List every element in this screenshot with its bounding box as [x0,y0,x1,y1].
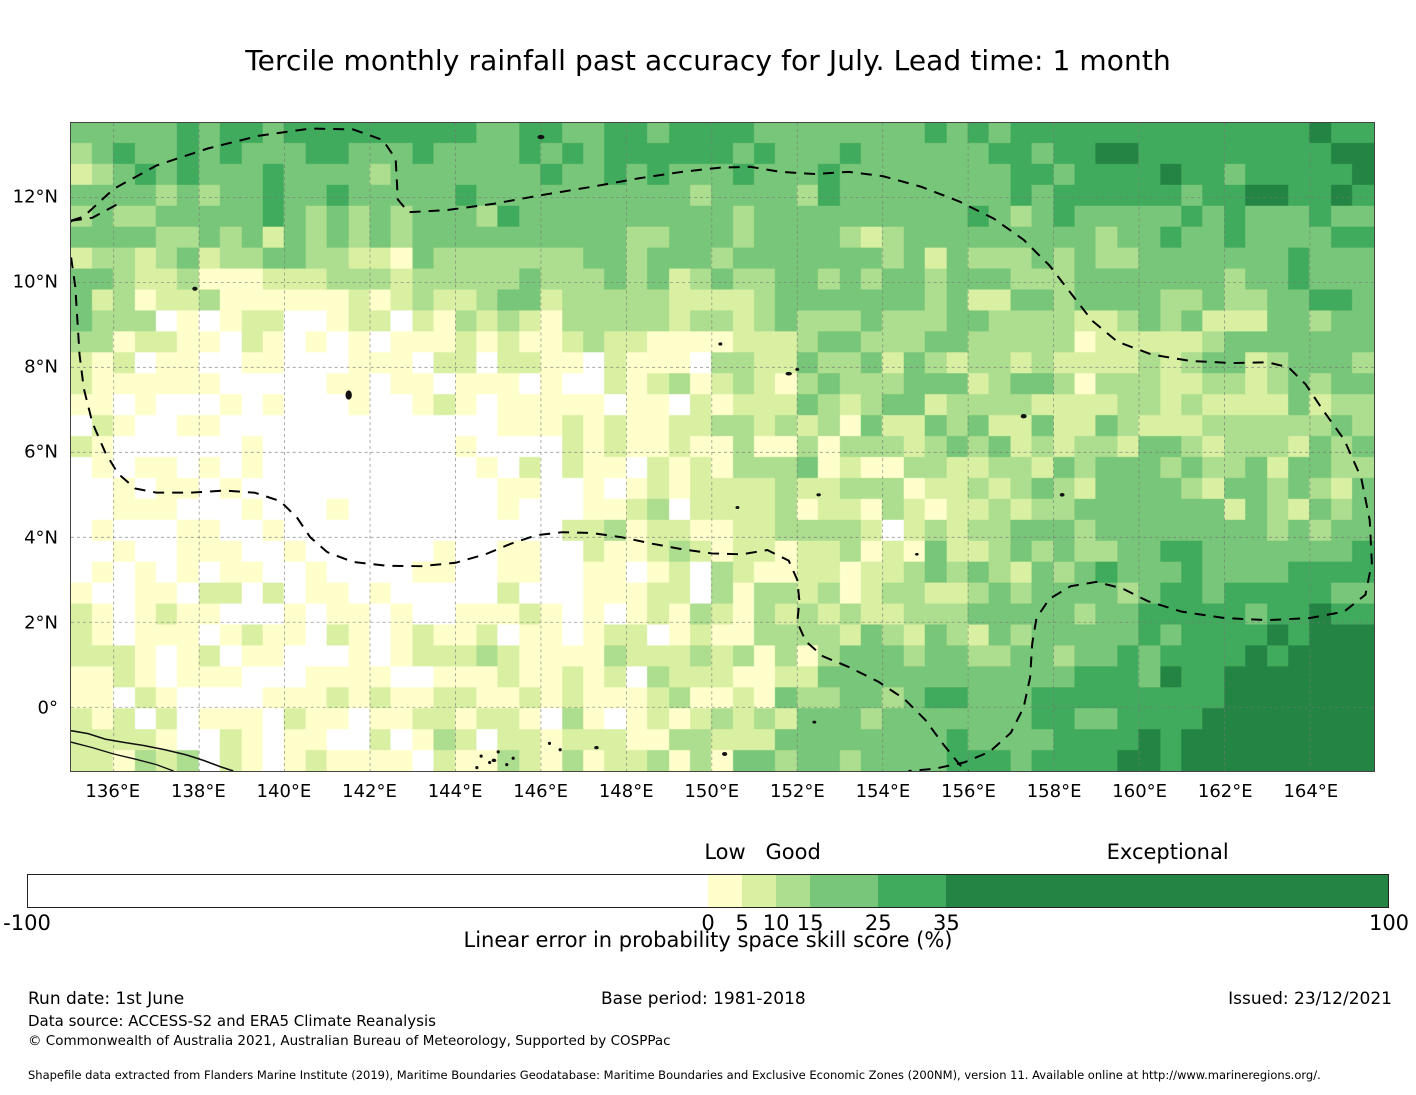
colorbar-category-exceptional: Exceptional [1107,840,1229,864]
map-plot-area[interactable] [70,122,1375,772]
colorbar-segment-10-to-15 [776,875,810,907]
colorbar-segment-5-to-10 [742,875,776,907]
colorbar-axis-label: Linear error in probability space skill … [0,928,1416,952]
lon-tick-148: 148°E [599,781,654,802]
colorbar-category-good: Good [765,840,820,864]
data-source-text: Data source: ACCESS-S2 and ERA5 Climate … [28,1012,436,1030]
lon-tick-146: 146°E [513,781,568,802]
run-date-text: Run date: 1st June [28,989,184,1009]
lon-tick-150: 150°E [684,781,739,802]
colorbar-segment-15-to-25 [810,875,878,907]
lon-tick-154: 154°E [856,781,911,802]
footer-metadata-row: Run date: 1st June Base period: 1981-201… [0,989,1416,1011]
copyright-text: © Commonwealth of Australia 2021, Austra… [28,1033,671,1049]
lat-tick-6: 6°N [24,442,58,463]
colorbar-category-low: Low [704,840,745,864]
shapefile-attribution-text: Shapefile data extracted from Flanders M… [28,1068,1321,1082]
lon-tick-136: 136°E [85,781,140,802]
lon-tick-138: 138°E [171,781,226,802]
lon-tick-144: 144°E [428,781,483,802]
colorbar[interactable] [27,874,1389,908]
lon-tick-164: 164°E [1283,781,1338,802]
lat-tick-10: 10°N [13,271,58,292]
lon-tick-142: 142°E [342,781,397,802]
lon-tick-152: 152°E [770,781,825,802]
skill-score-raster [71,123,1374,771]
issued-date-text: Issued: 23/12/2021 [1228,989,1392,1009]
lon-tick-160: 160°E [1112,781,1167,802]
lon-tick-158: 158°E [1027,781,1082,802]
colorbar-segment-0-to-5 [708,875,742,907]
lon-tick-140: 140°E [257,781,312,802]
colorbar-segment--100-to-0 [28,875,708,907]
lat-tick-4: 4°N [24,527,58,548]
colorbar-segment-25-to-35 [878,875,946,907]
colorbar-gradient [27,874,1389,908]
base-period-text: Base period: 1981-2018 [601,989,806,1009]
lat-tick-8: 8°N [24,357,58,378]
lat-tick-2: 2°N [24,612,58,633]
lat-tick-12: 12°N [13,186,58,207]
lon-tick-156: 156°E [941,781,996,802]
colorbar-segment-35-to-100 [946,875,1388,907]
lon-tick-162: 162°E [1198,781,1253,802]
page-title: Tercile monthly rainfall past accuracy f… [0,44,1416,77]
lat-tick-0: 0° [38,698,58,719]
